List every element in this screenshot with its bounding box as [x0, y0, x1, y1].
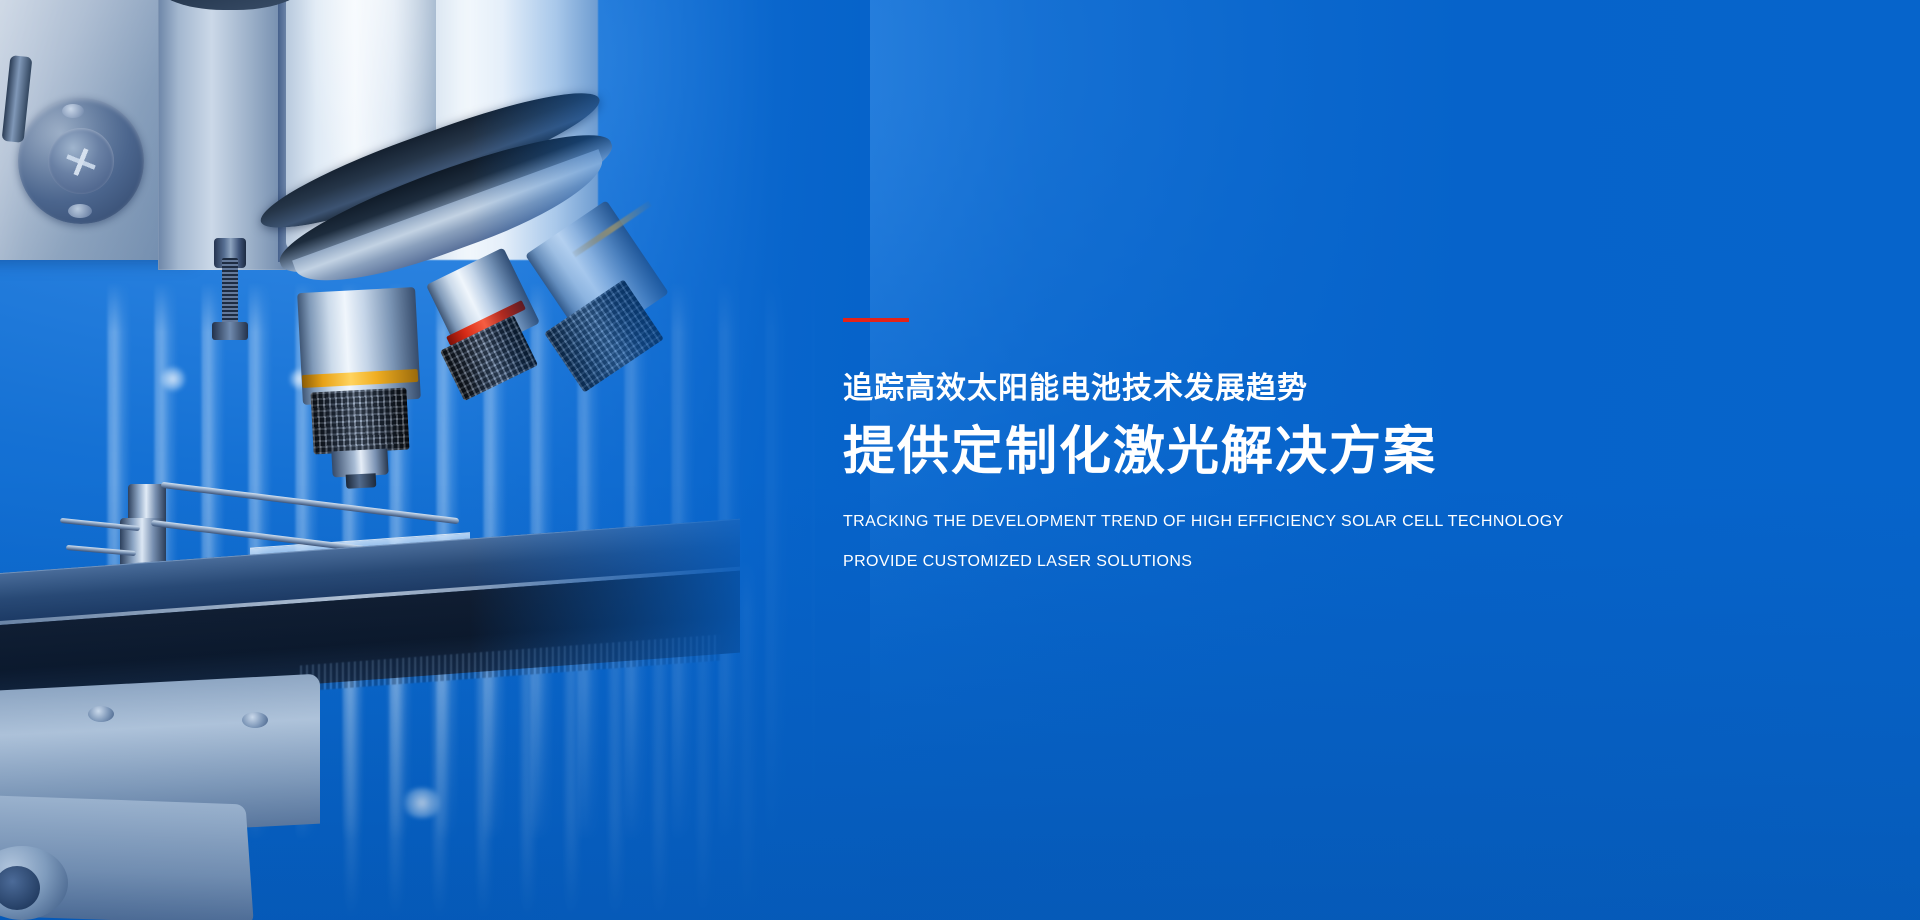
hero-subtitle-en-line1: TRACKING THE DEVELOPMENT TREND OF HIGH E… [843, 513, 1743, 531]
base-screw-left [88, 706, 114, 722]
hero-subtitle-cn: 追踪高效太阳能电池技术发展趋势 [843, 372, 1743, 405]
hero-text-block: 追踪高效太阳能电池技术发展趋势 提供定制化激光解决方案 TRACKING THE… [843, 318, 1743, 570]
screw-upper [62, 104, 84, 118]
screw-lower [68, 204, 92, 218]
glow-dot [160, 366, 186, 392]
objective-front-lens-tip [346, 473, 377, 489]
hero-banner: 追踪高效太阳能电池技术发展趋势 提供定制化激光解决方案 TRACKING THE… [0, 0, 1920, 920]
accent-divider [843, 318, 909, 322]
base-screw-right [242, 712, 268, 728]
adjustment-screw-shaft [222, 258, 238, 326]
hero-headline-cn: 提供定制化激光解决方案 [843, 423, 1743, 481]
objective-yellow-knurl [310, 388, 409, 455]
glow-dot [400, 788, 444, 818]
microscope-photo [0, 0, 860, 920]
hero-subtitle-en-line2: PROVIDE CUSTOMIZED LASER SOLUTIONS [843, 553, 1743, 571]
adjustment-screw-foot [212, 322, 248, 340]
